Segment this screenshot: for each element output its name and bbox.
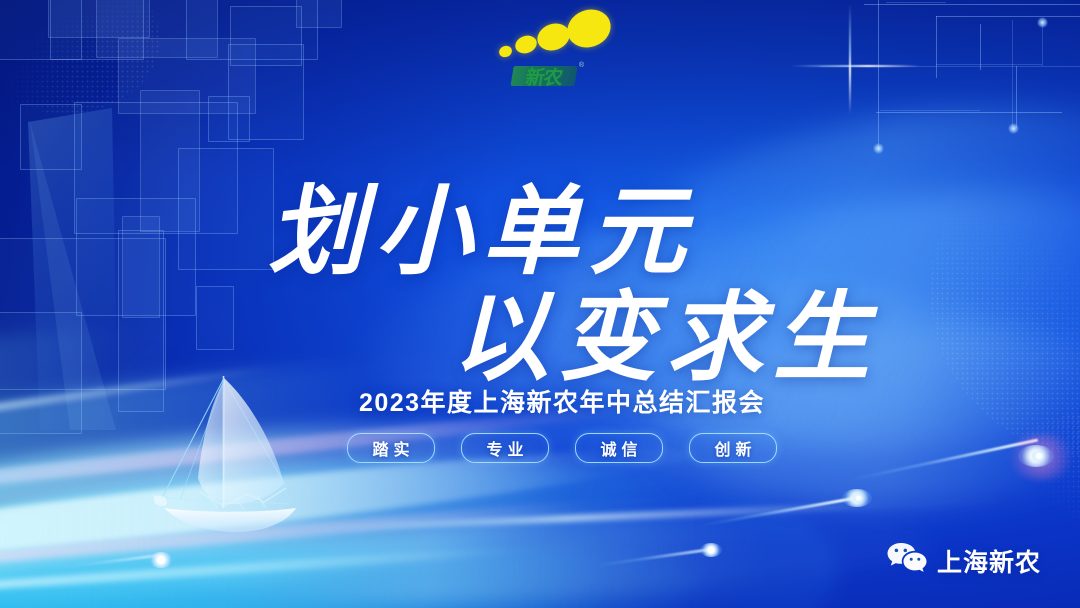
- subtitle-text: 2023年度上海新农年中总结汇报会: [315, 389, 765, 417]
- logo-dot-4: [562, 4, 616, 54]
- subtitle: 2023年度上海新农年中总结汇报会: [0, 383, 1080, 419]
- poster-canvas: 新农 ® 划小单元 以变求生 2023年度上海新农年中总结汇报会 踏实 专业 诚…: [0, 0, 1080, 608]
- wechat-icon: [886, 540, 928, 581]
- logo-trademark: ®: [579, 62, 584, 69]
- logo-dot-2: [513, 33, 539, 56]
- value-tag-3[interactable]: 诚信: [575, 433, 663, 463]
- value-tag-1[interactable]: 踏实: [347, 433, 435, 463]
- wechat-account-name: 上海新农: [937, 543, 1041, 579]
- wechat-badge[interactable]: 上海新农: [886, 540, 1041, 581]
- xinnong-logo[interactable]: 新农 ®: [497, 14, 597, 96]
- logo-dot-1: [498, 44, 514, 59]
- headline-line-2: 以变求生: [452, 258, 880, 399]
- value-tag-4[interactable]: 创新: [689, 433, 777, 463]
- value-tag-2[interactable]: 专业: [461, 433, 549, 463]
- value-tag-list: 踏实 专业 诚信 创新: [0, 433, 1080, 463]
- logo-wordmark: 新农: [512, 64, 576, 89]
